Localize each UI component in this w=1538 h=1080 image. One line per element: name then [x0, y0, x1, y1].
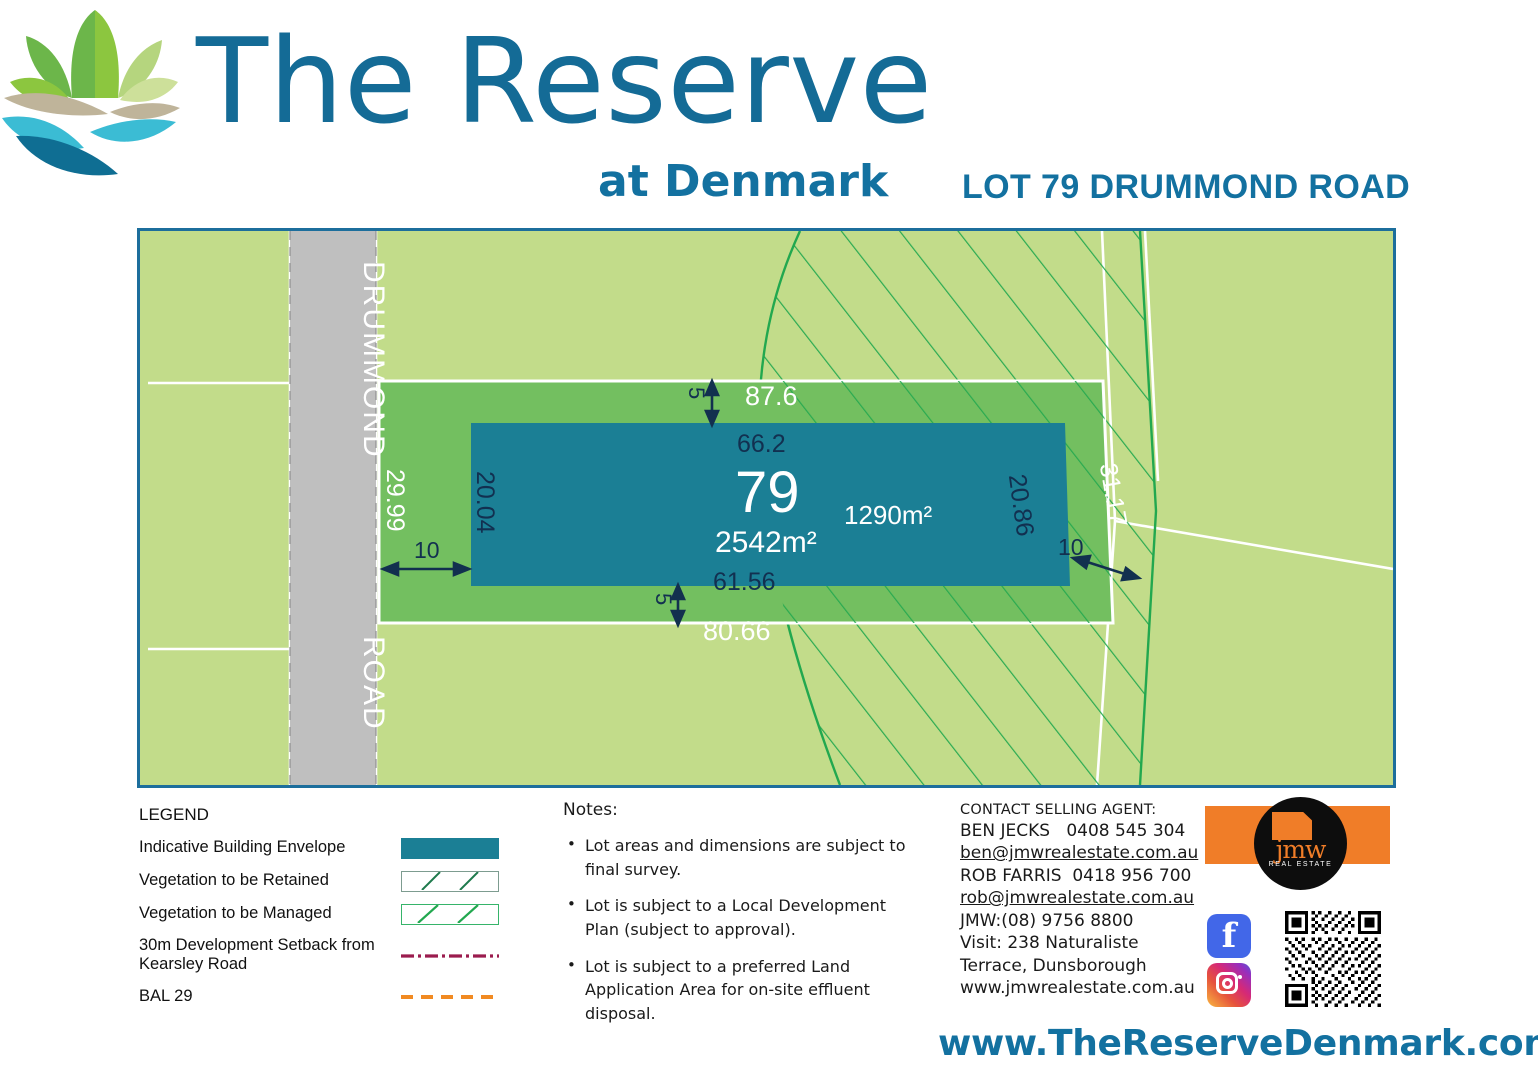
legend-swatch-hatch-green [401, 904, 499, 925]
legend-item-bal29: BAL 29 [139, 986, 519, 1008]
note-item: Lot is subject to a Local Development Pl… [563, 894, 913, 941]
contact-title: CONTACT SELLING AGENT: [960, 802, 1200, 818]
agent1-line: BEN JECKS 0408 545 304 [960, 820, 1200, 842]
agent2-phone[interactable]: 0418 956 700 [1072, 866, 1191, 886]
legend-title: LEGEND [139, 805, 519, 825]
dash-dot-line-icon [401, 945, 499, 966]
jmw-logo-icon: jmw REAL ESTATE [1254, 797, 1347, 890]
agent1-name: BEN JECKS [960, 821, 1050, 841]
instagram-icon[interactable] [1207, 963, 1251, 1007]
legend-swatch-dash-orange [401, 986, 499, 1007]
note-item: Lot areas and dimensions are subject to … [563, 834, 913, 881]
legend-item-vegetation-managed: Vegetation to be Managed [139, 903, 519, 925]
brand-subtitle: at Denmark [598, 160, 888, 204]
legend-item-development-setback: 30m Development Setback from Kearsley Ro… [139, 936, 519, 975]
qr-code-graphic [1285, 911, 1381, 1007]
note-item: Lot is subject to a preferred Land Appli… [563, 955, 913, 1026]
contact-section: CONTACT SELLING AGENT: BEN JECKS 0408 54… [960, 802, 1200, 1000]
facebook-glyph: f [1207, 914, 1251, 958]
legend-swatch-hatch-grey [401, 871, 499, 892]
legend-item-vegetation-retained: Vegetation to be Retained [139, 870, 519, 892]
agent1-email-link[interactable]: ben@jmwrealestate.com.au [960, 842, 1200, 864]
agent2-line: ROB FARRIS 0418 956 700 [960, 865, 1200, 887]
legend-swatch-dashdot-maroon [401, 945, 499, 966]
qr-code-icon[interactable] [1285, 911, 1381, 1007]
office-phone[interactable]: JMW:(08) 9756 8800 [960, 910, 1200, 932]
legend-label: 30m Development Setback from Kearsley Ro… [139, 936, 401, 975]
agency-brand-block: jmw REAL ESTATE f [1205, 806, 1395, 1006]
agent2-name: ROB FARRIS [960, 866, 1062, 886]
instagram-lens-glyph [1222, 978, 1233, 989]
hatch-pattern-icon [402, 872, 497, 890]
lot-heading: LOT 79 DRUMMOND ROAD [962, 170, 1410, 204]
brand-title: The Reserve [196, 22, 933, 140]
reserve-logo-icon [0, 2, 185, 182]
legend: LEGEND Indicative Building Envelope Vege… [139, 805, 519, 1019]
map-graphic [140, 231, 1393, 785]
agency-website[interactable]: www.jmwrealestate.com.au [960, 977, 1200, 999]
jmw-logo-subtitle: REAL ESTATE [1254, 861, 1347, 868]
jmw-logo-wordmark: jmw [1254, 837, 1347, 862]
legend-swatch-solid-teal [401, 838, 499, 859]
legend-label: BAL 29 [139, 987, 401, 1006]
instagram-dot-glyph [1238, 975, 1242, 979]
agent2-email-link[interactable]: rob@jmwrealestate.com.au [960, 887, 1200, 909]
notes-section: Notes: Lot areas and dimensions are subj… [563, 800, 913, 1039]
facebook-icon[interactable]: f [1207, 914, 1251, 958]
page-header: The Reserve at Denmark LOT 79 DRUMMOND R… [0, 0, 1538, 222]
project-website-url[interactable]: www.TheReserveDenmark.com.au [938, 1023, 1538, 1064]
legend-item-building-envelope: Indicative Building Envelope [139, 837, 519, 859]
notes-title: Notes: [563, 800, 913, 820]
legend-label: Vegetation to be Retained [139, 871, 401, 890]
legend-label: Indicative Building Envelope [139, 838, 401, 857]
agent1-phone[interactable]: 0408 545 304 [1066, 821, 1185, 841]
legend-label: Vegetation to be Managed [139, 904, 401, 923]
office-address: Visit: 238 Naturaliste Terrace, Dunsboro… [960, 932, 1200, 977]
lot-site-plan-map: DRUMMOND ROAD 79 2542m² 1290m² 87.6 66.2… [137, 228, 1396, 788]
hatch-pattern-icon [402, 905, 497, 923]
dashed-line-icon [401, 986, 499, 1007]
